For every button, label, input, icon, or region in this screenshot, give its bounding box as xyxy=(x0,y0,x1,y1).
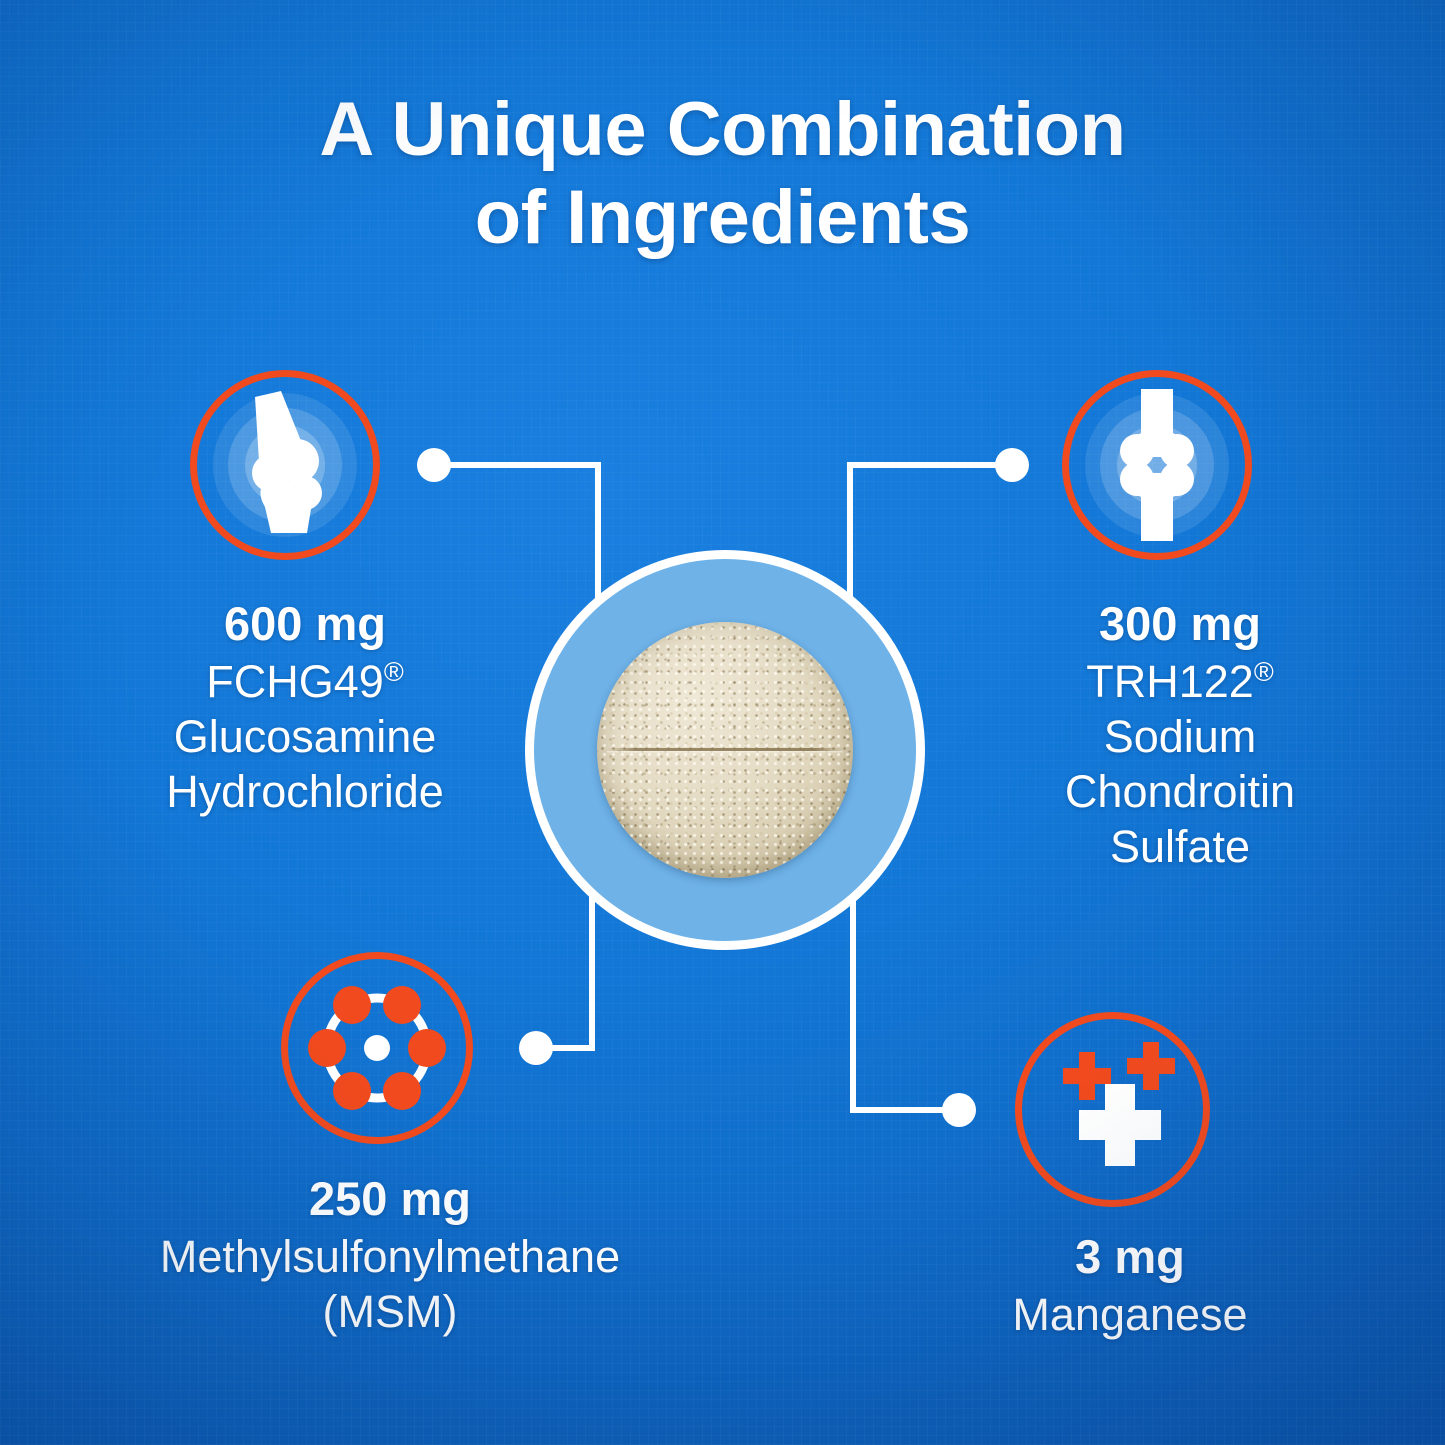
center-tablet-circle xyxy=(525,550,925,950)
connector-dot-msm xyxy=(519,1031,553,1065)
connector-dot-glucosamine xyxy=(417,448,451,482)
connector-dot-chondroitin xyxy=(995,448,1029,482)
supplement-tablet-icon xyxy=(597,622,853,878)
connector-path-chondroitin xyxy=(850,465,1010,640)
connector-path-msm xyxy=(545,880,592,1048)
connector-dot-manganese xyxy=(942,1093,976,1127)
connector-path-glucosamine xyxy=(436,465,598,640)
connector-path-manganese xyxy=(853,880,945,1110)
ingredients-infographic: A Unique Combination of Ingredients xyxy=(0,0,1445,1445)
